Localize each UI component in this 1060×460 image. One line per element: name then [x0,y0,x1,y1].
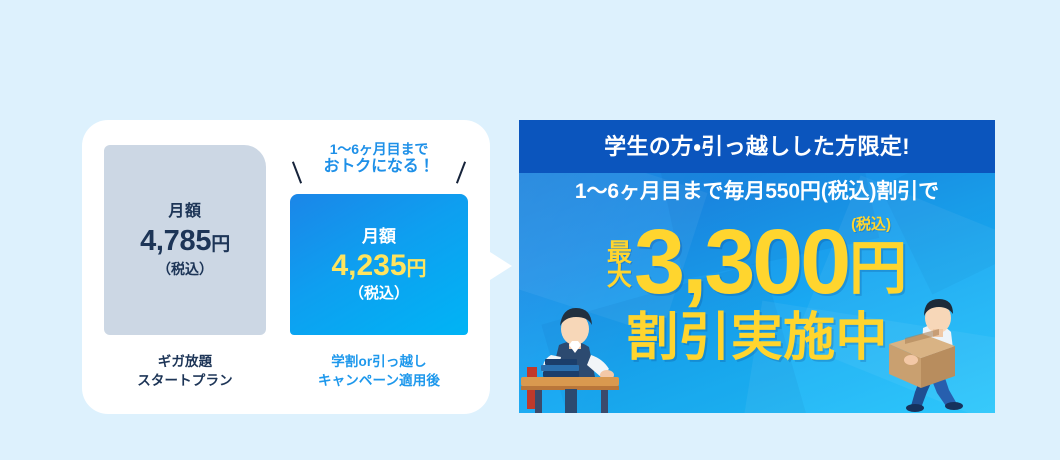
current-plan-yen-unit: 円 [211,234,230,255]
campaign-yen-group: (税込) 円 [849,243,907,295]
campaign-bottom-line: 割引実施中 [519,312,995,364]
right-arrow-icon [484,238,514,294]
discounted-plan-tax-note: （税込） [349,286,409,301]
campaign-header-band: 学生の方・引っ越しした方限定! [519,120,995,173]
campaign-panel: 学生の方・引っ越しした方限定! 1〜6ヶ月目まで毎月550円(税込)割引で 最 … [519,120,995,413]
current-plan-tax-note: （税込） [157,262,213,276]
max-label-line1: 最 [607,241,632,266]
discounted-plan-price: 4,235円 [331,250,426,282]
price-comparison-card: 月額 4,785円 （税込） 1〜6ヶ月目まで おトクになる！ 月額 4,235… [82,120,490,414]
current-plan-caption: ギガ放題 スタートプラン [104,352,266,390]
campaign-tax-note: (税込) [851,217,891,232]
banner-stage: 月額 4,785円 （税込） 1〜6ヶ月目まで おトクになる！ 月額 4,235… [0,0,1060,460]
price-boxes: 月額 4,785円 （税込） 1〜6ヶ月目まで おトクになる！ 月額 4,235… [104,145,468,345]
max-label-line2: 大 [607,265,632,290]
current-plan-price: 4,785円 [140,226,230,256]
campaign-amount: 3,300 [634,221,848,304]
current-plan-month-label: 月額 [168,204,201,220]
promo-flag-line2: おトクになる！ [290,158,468,177]
max-label: 最 大 [607,241,632,290]
discounted-plan-caption-line1: 学割or引っ越し [331,354,427,369]
discounted-plan-yen-unit: 円 [407,258,427,280]
discounted-plan-caption: 学割or引っ越し キャンペーン適用後 [290,352,468,390]
discounted-plan-month-label: 月額 [362,228,396,245]
current-plan-price-box: 月額 4,785円 （税込） [104,145,266,335]
campaign-header-text: 学生の方・引っ越しした方限定! [604,136,910,158]
promo-flag: 1〜6ヶ月目まで おトクになる！ [290,141,468,191]
discounted-plan-price-value: 4,235 [331,249,406,282]
current-plan-caption-line1: ギガ放題 [158,354,213,369]
current-plan-caption-line2: スタートプラン [137,373,232,388]
discounted-plan-caption-line2: キャンペーン適用後 [318,373,440,388]
campaign-yen-unit: 円 [849,243,907,295]
discounted-plan-price-box: 月額 4,235円 （税込） [290,194,468,335]
promo-flag-line1: 1〜6ヶ月目まで [290,141,468,158]
campaign-amount-row: 最 大 3,300 (税込) 円 [519,216,995,308]
campaign-subtitle: 1〜6ヶ月目まで毎月550円(税込)割引で [519,181,995,202]
plan-captions: ギガ放題 スタートプラン 学割or引っ越し キャンペーン適用後 [104,352,468,398]
current-plan-price-value: 4,785 [140,225,211,257]
